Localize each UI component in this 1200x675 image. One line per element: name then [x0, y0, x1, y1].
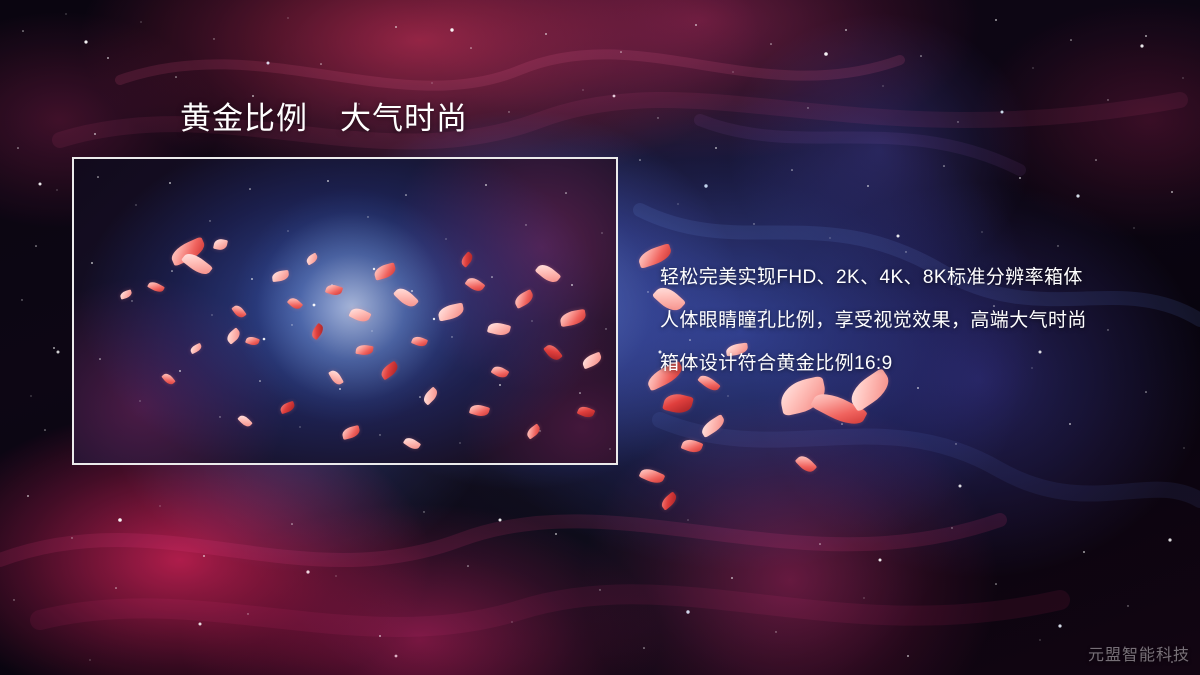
watermark: 元盟智能科技: [1088, 641, 1190, 665]
petal: [639, 466, 666, 487]
framed-starfield: [74, 159, 616, 463]
petal: [699, 414, 727, 438]
petal: [795, 453, 818, 476]
petal: [662, 391, 694, 416]
description-line-2: 人体眼睛瞳孔比例，享受视觉效果，高端大气时尚: [660, 299, 1087, 342]
description-line-1: 轻松完美实现FHD、2K、4K、8K标准分辨率箱体: [660, 256, 1087, 299]
page-title: 黄金比例 大气时尚: [180, 100, 468, 139]
description-line-3: 箱体设计符合黄金比例16:9: [660, 342, 1087, 385]
description-text: 轻松完美实现FHD、2K、4K、8K标准分辨率箱体 人体眼睛瞳孔比例，享受视觉效…: [660, 256, 1087, 385]
galaxy-image-frame: [72, 157, 618, 465]
petal: [659, 491, 679, 510]
slide-canvas: 黄金比例 大气时尚 轻松完美实现FHD、2K、4K、8K标准分辨率箱体 人体眼睛…: [0, 0, 1200, 675]
framed-image-content: [74, 159, 616, 463]
petal: [681, 437, 704, 455]
